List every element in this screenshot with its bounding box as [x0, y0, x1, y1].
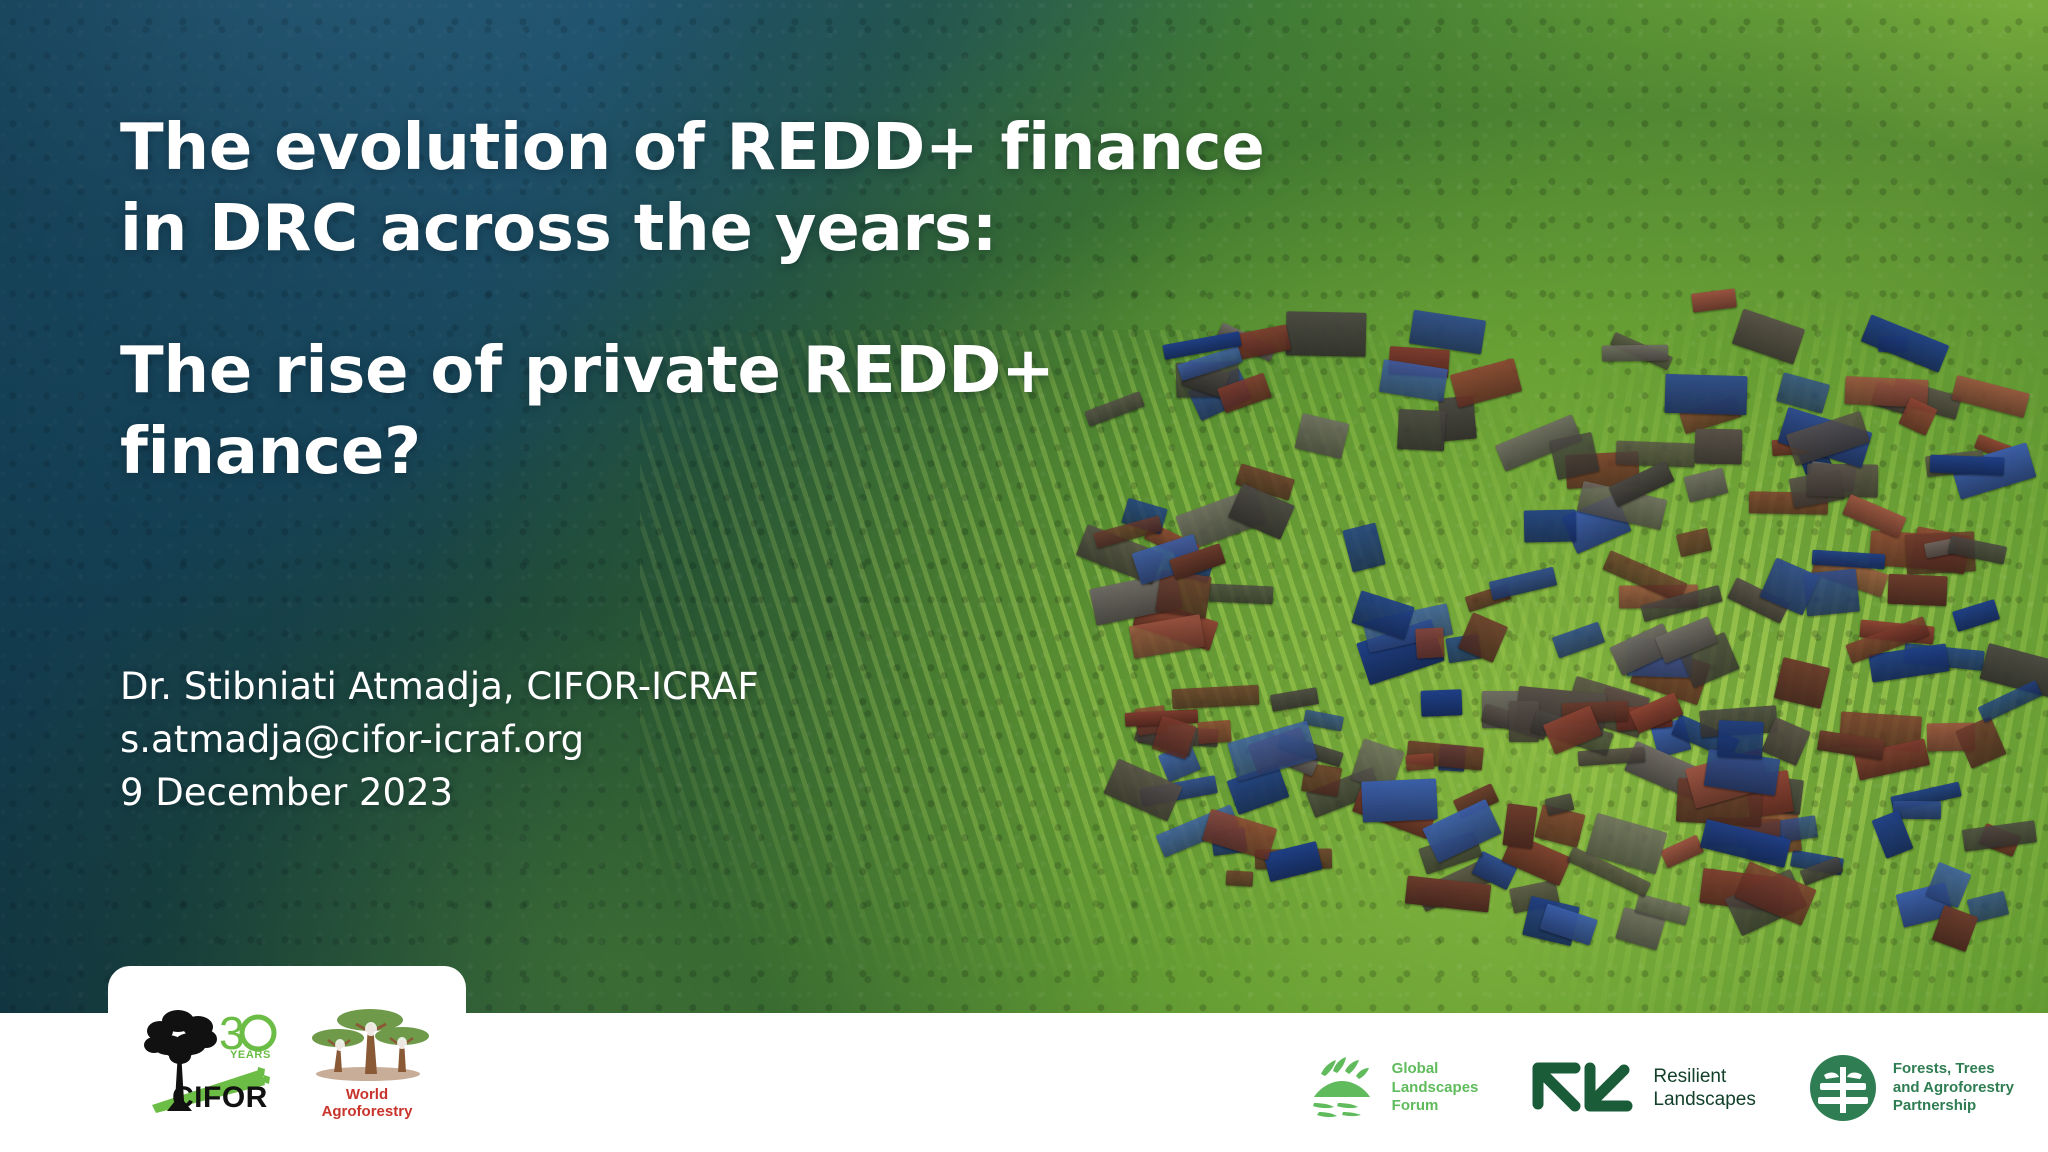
world-agroforestry-wordmark: World Agroforestry [304, 1087, 430, 1120]
partner-logos: Global Landscapes Forum Resilient Landsc… [1305, 1040, 2014, 1136]
title-line-1: The evolution of REDD+ finance [120, 108, 1370, 189]
forests-trees-agroforestry-label: Forests, Trees and Agroforestry Partners… [1893, 1060, 2014, 1117]
glf-line-2: Landscapes [1392, 1079, 1479, 1098]
title-line-2: in DRC across the years: [120, 189, 1370, 270]
partner-forests-trees-agroforestry: Forests, Trees and Agroforestry Partners… [1806, 1051, 2014, 1125]
partner-global-landscapes-forum: Global Landscapes Forum [1305, 1051, 1479, 1125]
world-agroforestry-logo: World Agroforestry [304, 998, 430, 1120]
fta-line-3: Partnership [1893, 1097, 2014, 1116]
title-line-4: finance? [120, 412, 1370, 493]
resilient-landscapes-icon [1528, 1059, 1640, 1117]
partner-resilient-landscapes: Resilient Landscapes [1528, 1059, 1755, 1117]
resilient-landscapes-label: Resilient Landscapes [1653, 1065, 1755, 1111]
cifor-anniversary-label: YEARS [230, 1049, 271, 1061]
glf-line-3: Forum [1392, 1097, 1479, 1116]
primary-logo-card: 3 YEARS CIFOR [108, 966, 466, 1152]
forests-trees-agroforestry-partnership-icon [1806, 1051, 1880, 1125]
cifor-logo: 3 YEARS CIFOR [134, 1001, 282, 1117]
wa-line-1: World [304, 1087, 430, 1104]
date-line: 9 December 2023 [120, 767, 759, 820]
world-agroforestry-logo-icon [304, 998, 430, 1088]
title-spacer [120, 269, 1370, 331]
fta-line-2: and Agroforestry [1893, 1079, 2014, 1098]
slide-title: The evolution of REDD+ finance in DRC ac… [120, 108, 1370, 493]
global-landscapes-forum-label: Global Landscapes Forum [1392, 1060, 1479, 1117]
author-line: Dr. Stibniati Atmadja, CIFOR-ICRAF [120, 661, 759, 714]
email-line[interactable]: s.atmadja@cifor-icraf.org [120, 714, 759, 767]
title-line-3: The rise of private REDD+ [120, 331, 1370, 412]
global-landscapes-forum-icon [1305, 1051, 1379, 1125]
wa-line-2: Agroforestry [304, 1104, 430, 1121]
rl-line-1: Resilient [1653, 1065, 1755, 1088]
presentation-slide: /* roofs generated below */ The evolutio… [0, 0, 2048, 1152]
slide-subtitle: Dr. Stibniati Atmadja, CIFOR-ICRAF s.atm… [120, 661, 759, 820]
glf-line-1: Global [1392, 1060, 1479, 1079]
rl-line-2: Landscapes [1653, 1088, 1755, 1111]
fta-line-1: Forests, Trees [1893, 1060, 2014, 1079]
cifor-wordmark: CIFOR [172, 1081, 268, 1115]
